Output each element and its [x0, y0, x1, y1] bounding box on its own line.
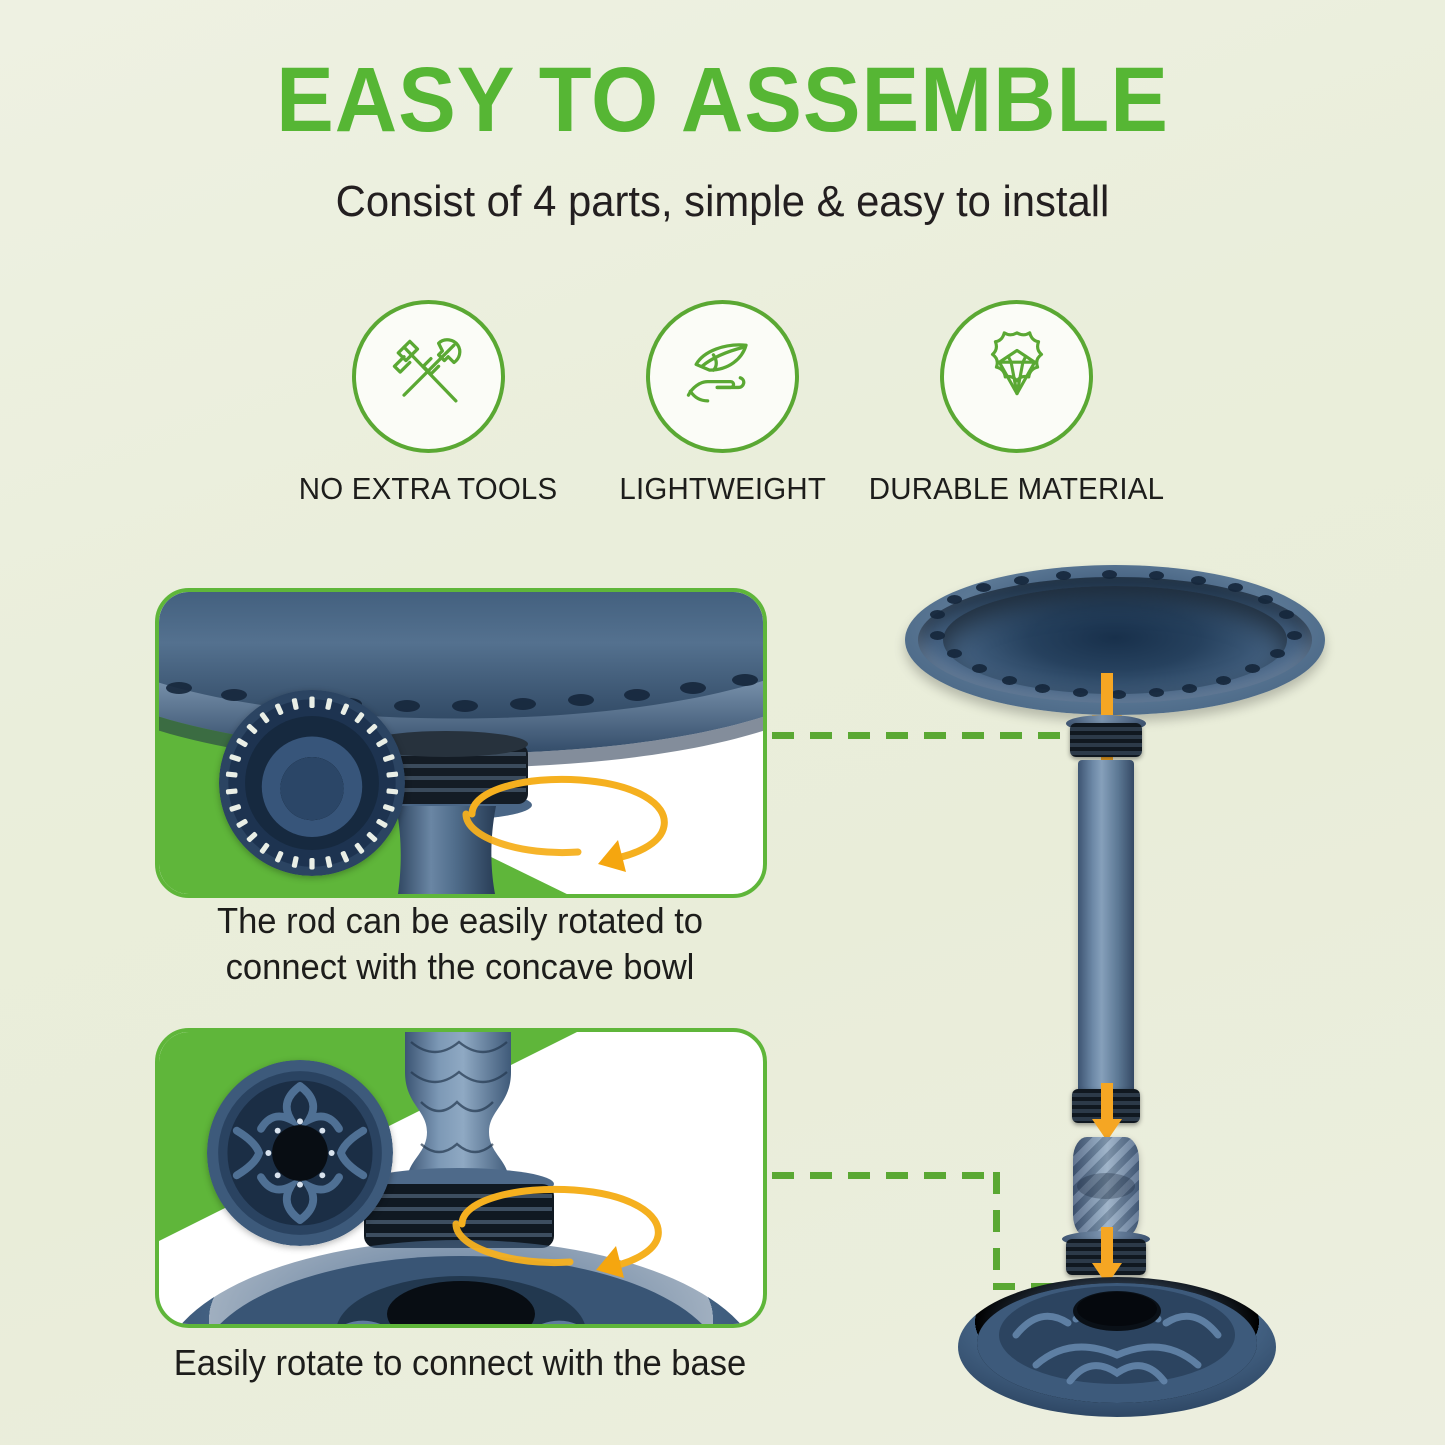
callout-caption-base: Easily rotate to connect with the base: [162, 1340, 757, 1386]
page-title: EASY TO ASSEMBLE: [43, 54, 1401, 146]
bowl-top-view-inset: [219, 690, 405, 876]
base-top-view-inset: [207, 1060, 393, 1246]
hand-feather-icon: [675, 326, 771, 427]
hammer-screwdriver-icon: [381, 326, 477, 427]
feature-label: DURABLE MATERIAL: [869, 471, 1164, 507]
page-subtitle: Consist of 4 parts, simple & easy to ins…: [36, 178, 1409, 226]
feature-label: LIGHTWEIGHT: [619, 471, 826, 507]
feature-icon-circle: [940, 300, 1093, 453]
feature-lightweight: LIGHTWEIGHT: [598, 300, 848, 507]
feature-no-extra-tools: NO EXTRA TOOLS: [304, 300, 554, 507]
feature-icon-circle: [646, 300, 799, 453]
infographic-canvas: EASY TO ASSEMBLE Consist of 4 parts, sim…: [0, 0, 1445, 1445]
product-part-ornate-connector: [1073, 1137, 1139, 1237]
feature-durable-material: DURABLE MATERIAL: [892, 300, 1142, 507]
callout-card-bowl: [155, 588, 767, 898]
feature-icon-circle: [352, 300, 505, 453]
product-part-rod: [1078, 760, 1134, 1095]
clockwise-rotate-arrow: [421, 1180, 691, 1290]
feature-badge-row: NO EXTRA TOOLS LIGHTWEIGHT: [0, 300, 1445, 507]
threaded-collar-top: [1070, 723, 1142, 757]
clockwise-rotate-arrow: [427, 768, 693, 888]
callout-card-base: [155, 1028, 767, 1328]
callout-caption-bowl: The rod can be easily rotated to connect…: [162, 898, 757, 990]
product-part-base: [958, 1267, 1276, 1417]
orange-joining-arrow-down: [1092, 1083, 1122, 1141]
diamond-badge-icon: [968, 325, 1066, 428]
birdbath-assembly: [880, 555, 1350, 1435]
feature-label: NO EXTRA TOOLS: [299, 471, 558, 507]
